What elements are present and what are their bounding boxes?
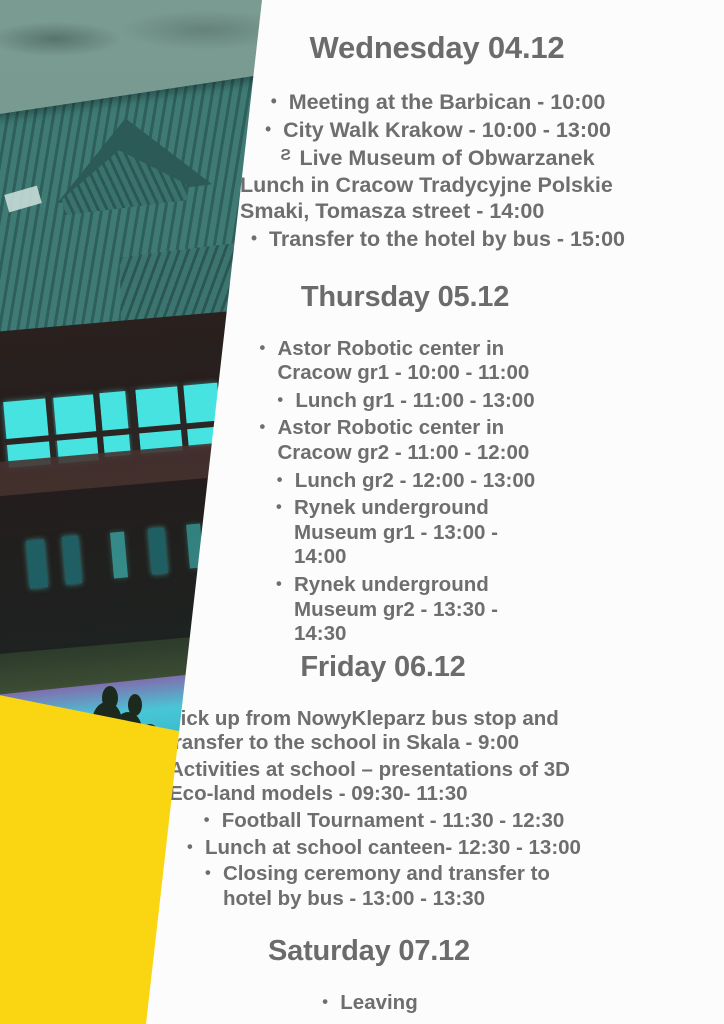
day-section-saturday: Saturday 07.12 Leaving [82, 912, 656, 1015]
day-item-list: Leaving [82, 991, 656, 1016]
list-item-text: City Walk Krakow - 10:00 - 13:00 [263, 118, 611, 144]
list-item-text: Astor Robotic center in Cracow gr1 - 10:… [258, 337, 553, 386]
itinerary-poster: Wednesday 04.12 Meeting at the Barbican … [0, 0, 724, 1024]
list-item: Closing ceremony and transfer to hotel b… [96, 862, 670, 911]
list-item: Football Tournament - 11:30 - 12:30 [96, 809, 670, 834]
list-item-text: Live Museum of Obwarzanek [279, 146, 594, 172]
list-item: Transfer to the hotel by bus - 15:00 [150, 227, 724, 253]
list-item: Pick up from NowyKleparz bus stop and tr… [96, 707, 670, 756]
list-item-text: Football Tournament - 11:30 - 12:30 [202, 809, 565, 834]
list-item-text: Lunch at school canteen- 12:30 - 13:00 [185, 836, 581, 861]
day-title: Saturday 07.12 [82, 936, 656, 966]
list-item-text: Closing ceremony and transfer to hotel b… [203, 862, 563, 911]
list-item-text: Leaving [320, 991, 417, 1016]
list-item-text: Rynek underground Museum gr1 - 13:00 - 1… [274, 496, 536, 570]
list-item: Leaving [82, 991, 656, 1016]
list-item-text: Meeting at the Barbican - 10:00 [269, 90, 606, 116]
window [99, 391, 130, 457]
list-item-text: Lunch gr2 - 12:00 - 13:00 [275, 469, 535, 494]
day-item-list: Pick up from NowyKleparz bus stop and tr… [96, 707, 670, 912]
list-item-text: Transfer to the hotel by bus - 15:00 [249, 227, 625, 253]
list-item-text: Lunch gr1 - 11:00 - 13:00 [275, 389, 534, 414]
list-item-text: Activities at school – presentations of … [149, 758, 617, 807]
list-item: Activities at school – presentations of … [96, 758, 670, 807]
list-item-text: Pick up from NowyKleparz bus stop and tr… [147, 707, 619, 756]
cloud-shape [0, 22, 120, 56]
list-item-text: Lunch in Cracow Tradycyjne Polskie Smaki… [220, 173, 654, 225]
list-item: Lunch at school canteen- 12:30 - 13:00 [96, 836, 670, 861]
list-item-text: Astor Robotic center in Cracow gr2 - 11:… [258, 416, 553, 465]
